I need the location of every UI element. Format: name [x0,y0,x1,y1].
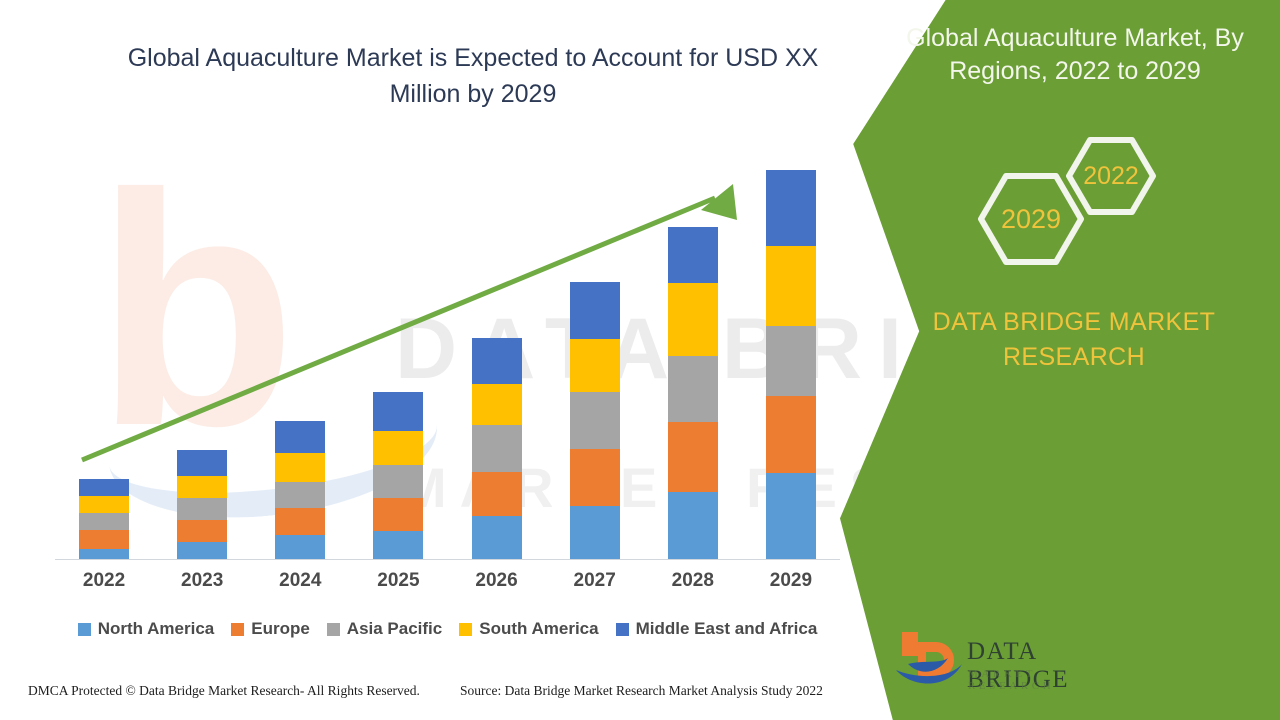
legend-item[interactable]: South America [459,619,598,639]
bar-segment [766,246,816,325]
bar-segment [668,492,718,559]
footer-copyright: DMCA Protected © Data Bridge Market Rese… [28,683,420,699]
stacked-bar-2023 [177,450,227,559]
logo-mark-icon [892,628,967,696]
stacked-bar-2022 [79,479,129,559]
bar-segment [570,506,620,559]
bar-segment [79,496,129,513]
legend-item[interactable]: Asia Pacific [327,619,442,639]
legend-label: South America [479,619,598,639]
stacked-bar-2026 [472,338,522,559]
bar-segment [766,396,816,473]
stacked-bar-group [55,170,840,559]
bar-segment [79,513,129,530]
bar-segment [79,479,129,497]
legend-swatch-icon [78,623,91,636]
legend-swatch-icon [616,623,629,636]
bar-segment [472,425,522,472]
chart-legend: North AmericaEuropeAsia PacificSouth Ame… [55,616,840,642]
legend-label: North America [98,619,215,639]
bar-segment [570,449,620,505]
stacked-bar-2029 [766,170,816,559]
chart-plot-area [55,170,840,560]
bar-segment [472,338,522,384]
bar-segment [668,422,718,492]
x-axis-label-2023: 2023 [177,570,227,592]
bar-segment [373,498,423,530]
bar-segment [177,476,227,498]
legend-item[interactable]: Europe [231,619,310,639]
bar-segment [275,482,325,508]
legend-item[interactable]: Middle East and Africa [616,619,818,639]
bar-segment [668,283,718,356]
legend-item[interactable]: North America [78,619,215,639]
footer-source: Source: Data Bridge Market Research Mark… [460,683,823,699]
logo-subtitle: MARKET RESEARCH [968,668,1122,692]
x-axis-label-2024: 2024 [275,570,325,592]
x-axis-label-2025: 2025 [373,570,423,592]
bar-segment [177,498,227,520]
bar-segment [472,384,522,425]
panel-title: Global Aquaculture Market, By Regions, 2… [840,22,1280,88]
legend-label: Middle East and Africa [636,619,818,639]
bar-segment [275,421,325,453]
x-axis-labels: 20222023202420252026202720282029 [55,566,840,596]
hexagon-label-2022: 2022 [1069,162,1153,191]
hexagon-badges: 2022 2029 [972,132,1162,292]
bar-segment [766,170,816,246]
stacked-bar-2025 [373,392,423,559]
data-bridge-logo: DATA BRIDGE MARKET RESEARCH [892,628,1122,700]
bar-segment [373,465,423,498]
bar-segment [570,339,620,391]
bar-segment [668,356,718,422]
bar-segment [79,530,129,549]
bar-segment [275,508,325,535]
x-axis-label-2026: 2026 [472,570,522,592]
bar-segment [766,326,816,396]
legend-swatch-icon [231,623,244,636]
legend-swatch-icon [327,623,340,636]
bar-segment [373,431,423,464]
chart-title: Global Aquaculture Market is Expected to… [118,40,828,112]
bar-segment [275,453,325,481]
bar-segment [177,450,227,476]
bar-segment [177,520,227,542]
x-axis-label-2028: 2028 [668,570,718,592]
bar-segment [275,535,325,559]
bar-segment [79,549,129,559]
hexagon-label-2029: 2029 [981,204,1081,235]
bar-segment [177,542,227,559]
bar-segment [472,472,522,516]
x-axis-label-2029: 2029 [766,570,816,592]
legend-label: Europe [251,619,310,639]
bar-segment [766,473,816,559]
x-axis-label-2022: 2022 [79,570,129,592]
legend-swatch-icon [459,623,472,636]
bar-segment [373,392,423,432]
x-axis-label-2027: 2027 [570,570,620,592]
panel-brand-text: DATA BRIDGE MARKET RESEARCH [840,305,1280,375]
bar-segment [570,392,620,450]
legend-label: Asia Pacific [347,619,442,639]
bar-segment [373,531,423,559]
bar-segment [472,516,522,559]
bar-segment [570,282,620,340]
stacked-bar-2024 [275,421,325,559]
bar-segment [668,227,718,283]
stacked-bar-2028 [668,227,718,559]
stacked-bar-2027 [570,282,620,559]
x-axis-line [55,559,840,560]
